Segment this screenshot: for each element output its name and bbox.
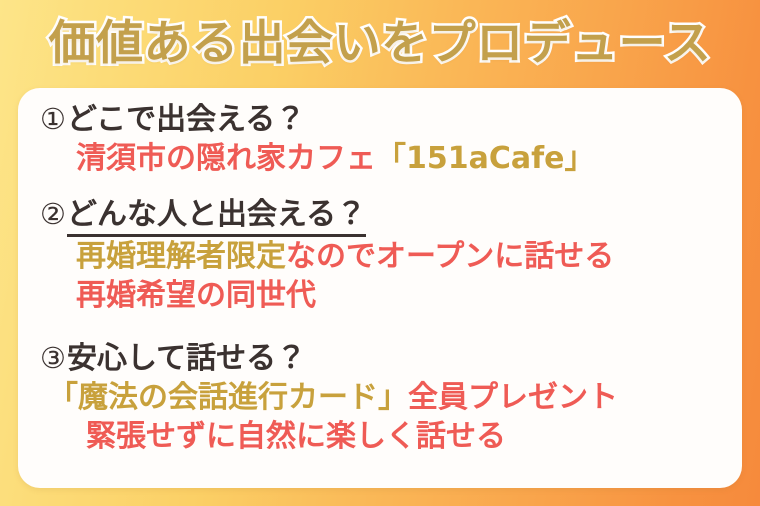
- question-text: 安心して話せる？: [67, 341, 306, 378]
- answer-segment-highlight: 「魔法の会話進行カード」: [48, 380, 408, 415]
- answer-line: 再婚希望の同世代: [40, 276, 720, 315]
- answer-segment: なのでオープンに話せる: [286, 239, 614, 274]
- section-list: ① どこで出会える？ 清須市の隠れ家カフェ「151aCafe」 ② どんな人と出…: [40, 100, 720, 478]
- answer-segment: 再婚希望の同世代: [76, 278, 316, 313]
- question-line: ① どこで出会える？: [40, 102, 720, 139]
- circled-number-icon: ②: [40, 197, 66, 232]
- answer-segment: 清須市の隠れ家カフェ: [76, 141, 376, 176]
- promo-poster: 価値ある出会いをプロデュース ① どこで出会える？ 清須市の隠れ家カフェ「151…: [0, 0, 760, 506]
- section-item: ② どんな人と出会える？ 再婚理解者限定なのでオープンに話せる 再婚希望の同世代: [40, 197, 720, 316]
- question-line: ③ 安心して話せる？: [40, 341, 720, 378]
- answer-line: 清須市の隠れ家カフェ「151aCafe」: [40, 139, 720, 178]
- answer-line: 再婚理解者限定なのでオープンに話せる: [40, 237, 720, 276]
- answer-segment: 全員プレゼント: [408, 380, 618, 415]
- content-card: ① どこで出会える？ 清須市の隠れ家カフェ「151aCafe」 ② どんな人と出…: [18, 88, 742, 488]
- question-text: どんな人と出会える？: [67, 197, 366, 238]
- answer-line: 「魔法の会話進行カード」全員プレゼント: [40, 378, 720, 417]
- page-title: 価値ある出会いをプロデュース: [49, 20, 712, 67]
- question-line: ② どんな人と出会える？: [40, 197, 720, 238]
- answer-segment: 緊張せずに自然に楽しく話せる: [86, 419, 506, 454]
- title-banner: 価値ある出会いをプロデュース: [0, 6, 760, 80]
- circled-number-icon: ①: [40, 102, 66, 137]
- question-text: どこで出会える？: [67, 102, 305, 139]
- answer-segment-highlight: 「151aCafe」: [376, 141, 595, 176]
- section-item: ① どこで出会える？ 清須市の隠れ家カフェ「151aCafe」: [40, 102, 720, 178]
- circled-number-icon: ③: [40, 341, 66, 376]
- section-item: ③ 安心して話せる？ 「魔法の会話進行カード」全員プレゼント 緊張せずに自然に楽…: [40, 341, 720, 456]
- answer-line: 緊張せずに自然に楽しく話せる: [40, 417, 720, 456]
- answer-segment-highlight: 再婚理解者限定: [76, 239, 286, 274]
